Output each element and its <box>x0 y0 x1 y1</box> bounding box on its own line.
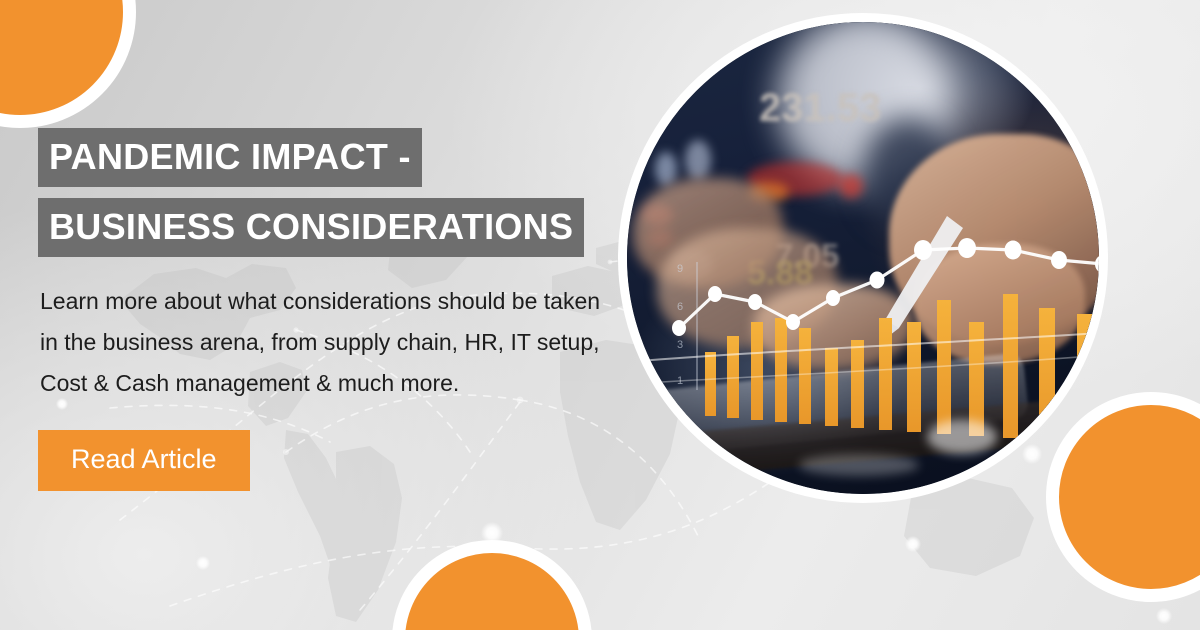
lens-glare <box>799 454 919 476</box>
subcopy-paragraph: Learn more about what considerations sho… <box>40 281 612 404</box>
read-article-button[interactable]: Read Article <box>38 430 250 491</box>
lens-glare <box>927 420 997 454</box>
glow-dot <box>905 536 921 552</box>
bokeh-light <box>685 140 711 180</box>
page-title: PANDEMIC IMPACT - BUSINESS CONSIDERATION… <box>38 128 598 268</box>
ticker-bokeh-dot <box>839 174 863 198</box>
promo-banner: 231.53 7.05 5.88 <box>0 0 1200 630</box>
bokeh-light <box>655 152 677 186</box>
headline-line-2: BUSINESS CONSIDERATIONS <box>38 198 584 257</box>
hero-photo: 231.53 7.05 5.88 <box>627 22 1099 494</box>
glow-dot <box>1156 608 1172 624</box>
headline-line-1: PANDEMIC IMPACT - <box>38 128 422 187</box>
chart-line-overlay <box>627 202 1099 392</box>
content-column: PANDEMIC IMPACT - BUSINESS CONSIDERATION… <box>38 0 608 630</box>
hero-photo-circle: 231.53 7.05 5.88 <box>618 13 1108 503</box>
overlay-number-231: 231.53 <box>759 86 881 131</box>
